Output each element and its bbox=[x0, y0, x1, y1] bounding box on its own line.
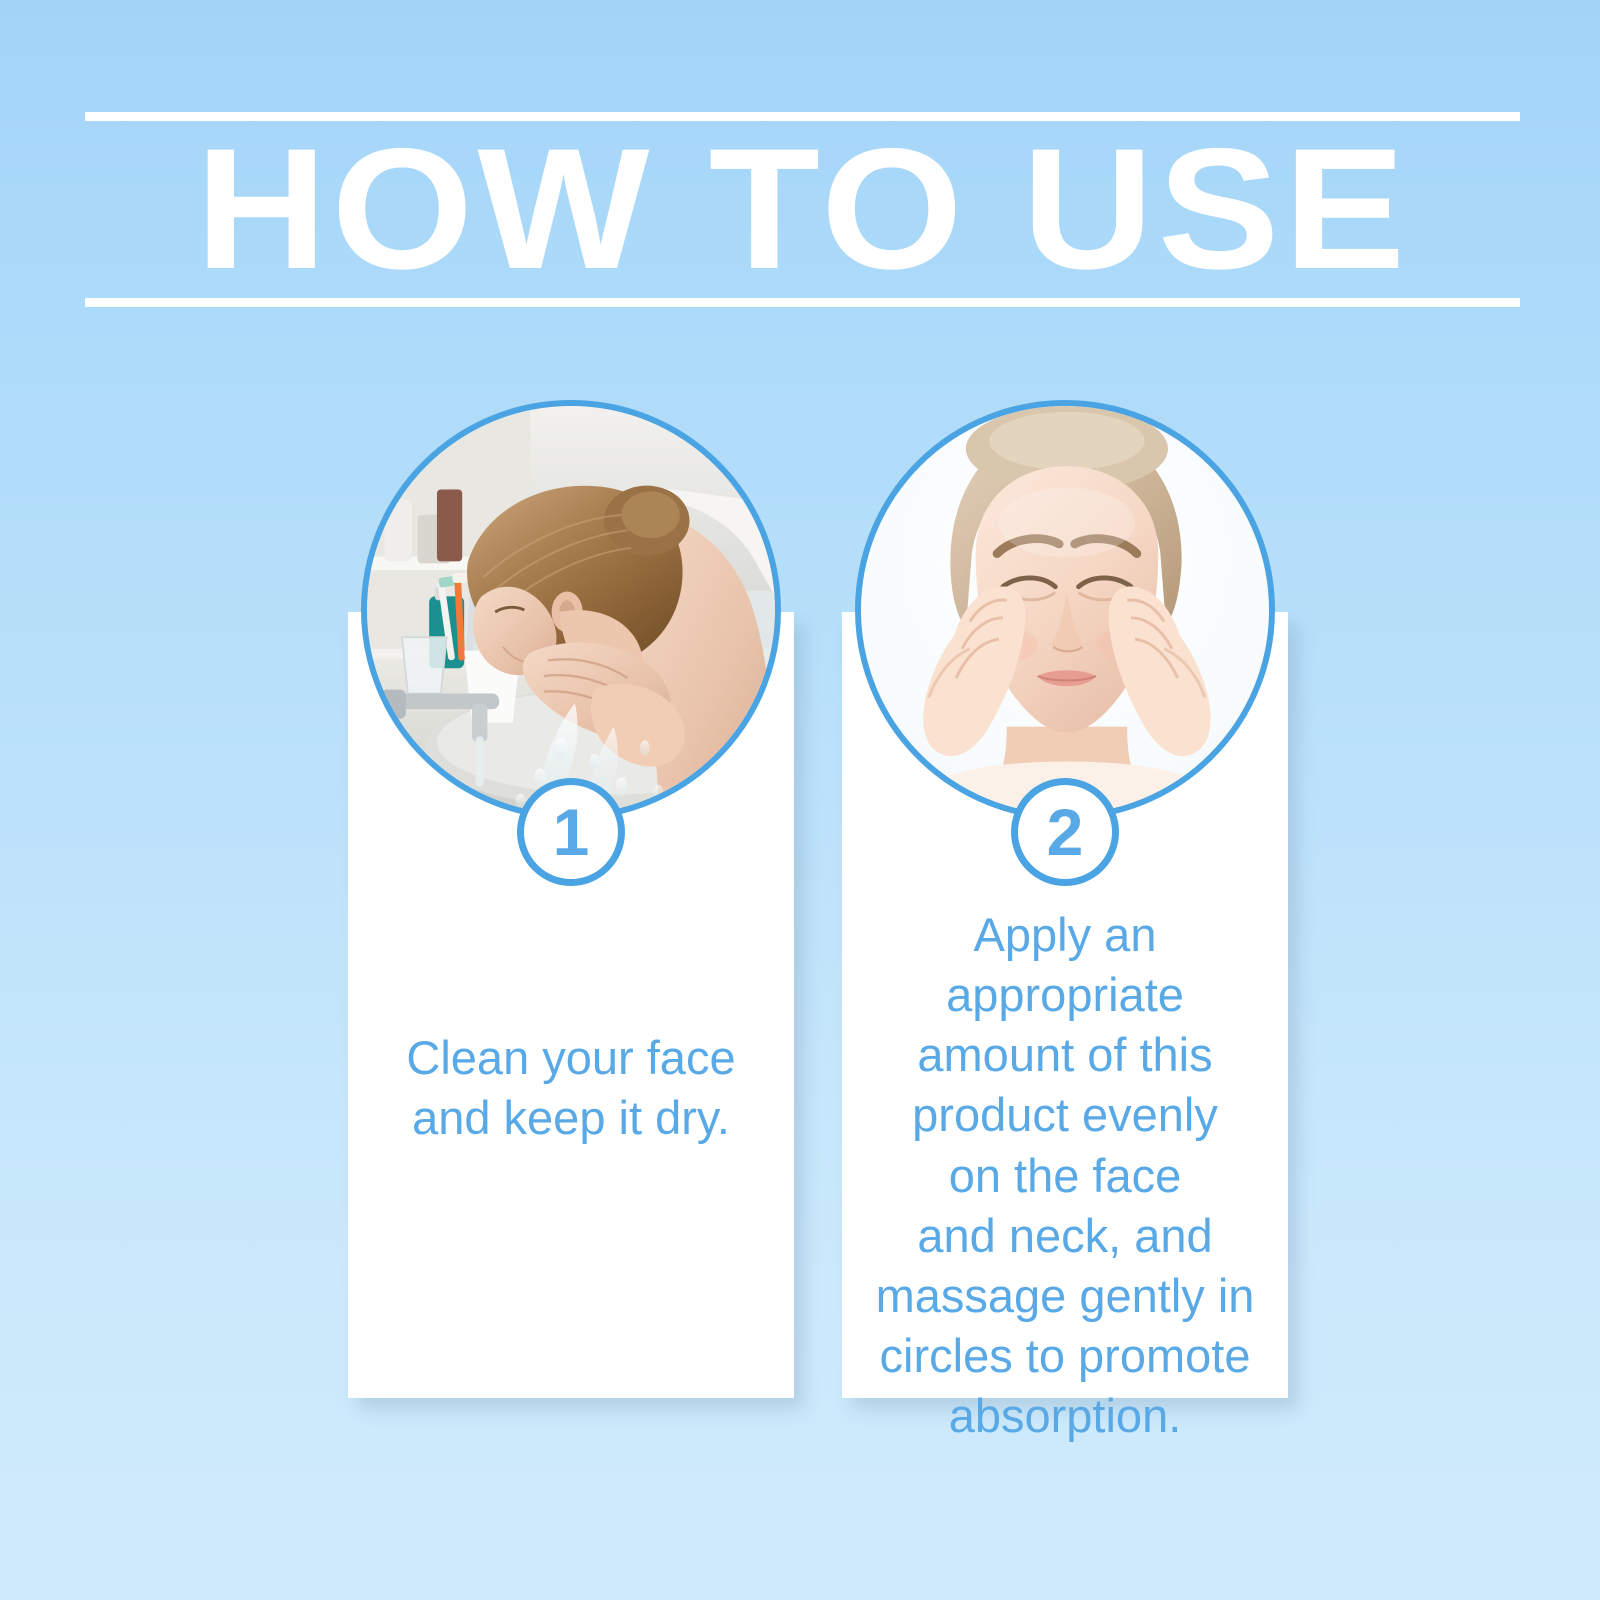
step-card-1: 1 Clean your face and keep it dry. bbox=[348, 400, 794, 1398]
step-photo-2 bbox=[855, 400, 1275, 820]
step-card-2: 2 Apply an appropriate amount of this pr… bbox=[842, 400, 1288, 1398]
how-to-use-poster: HOW TO USE bbox=[0, 0, 1600, 1600]
step-number-badge-2: 2 bbox=[1011, 778, 1119, 886]
steps-container: 1 Clean your face and keep it dry. bbox=[0, 0, 1600, 1600]
face-massage-photo bbox=[861, 406, 1269, 814]
step-number-badge-1: 1 bbox=[517, 778, 625, 886]
step-caption-1: Clean your face and keep it dry. bbox=[360, 1028, 782, 1148]
washing-face-illustration bbox=[367, 406, 775, 814]
step-caption-2: Apply an appropriate amount of this prod… bbox=[854, 905, 1276, 1446]
washing-face-photo bbox=[367, 406, 775, 814]
step-photo-1 bbox=[361, 400, 781, 820]
face-massage-illustration bbox=[861, 406, 1269, 814]
